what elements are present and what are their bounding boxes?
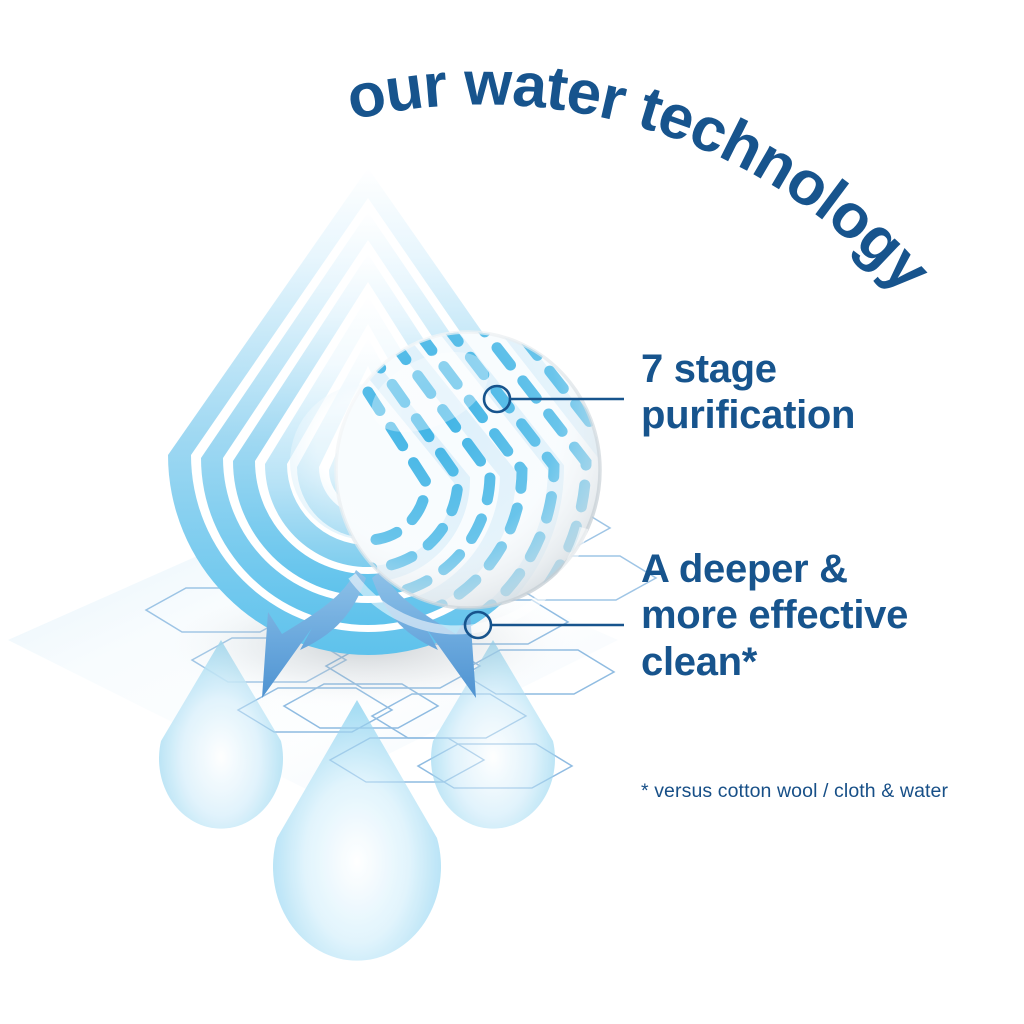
- callout-1-line-2: purification: [641, 392, 971, 438]
- callout-label-seven-stage-purification: 7 stage purification: [641, 346, 971, 439]
- infographic-canvas: our water technology 7 stage purificatio…: [0, 0, 1024, 1024]
- callout-2-line-2: more effective: [641, 592, 991, 638]
- callout-1-line-1: 7 stage: [641, 346, 971, 392]
- callout-2-line-3: clean*: [641, 639, 991, 685]
- callout-label-deeper-more-effective-clean: A deeper & more effective clean*: [641, 546, 991, 685]
- footnote-disclaimer: * versus cotton wool / cloth & water: [641, 780, 948, 803]
- callout-2-line-1: A deeper &: [641, 546, 991, 592]
- water-technology-illustration: our water technology: [0, 0, 1024, 1024]
